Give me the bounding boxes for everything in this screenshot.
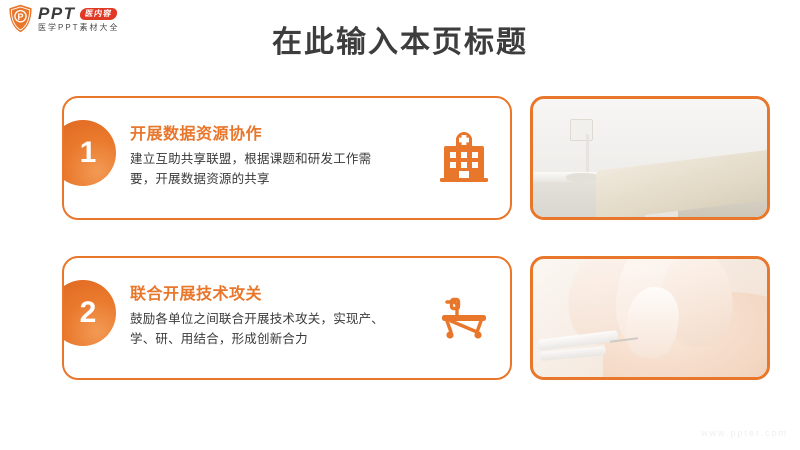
step-badge-1: 1 (62, 120, 116, 186)
hospital-gurney-icon (434, 288, 494, 348)
card-body-2: 鼓励各单位之间联合开展技术攻关，实现产、学、研、用结合，形成创新合力 (130, 309, 390, 350)
medical-injection-photo (530, 256, 770, 380)
photo-frame-2 (533, 259, 767, 377)
card-text-block-1: 开展数据资源协作 建立互助共享联盟，根据课题和研发工作需要，开展数据资源的共享 (130, 120, 390, 190)
hospital-building-icon (434, 128, 494, 188)
injection-illustration (533, 259, 767, 377)
step-number-2: 2 (70, 298, 97, 328)
step-number-1: 1 (70, 138, 97, 168)
step-badge-2: 2 (62, 280, 116, 346)
sink-basin (566, 173, 599, 181)
card-body-1: 建立互助共享联盟，根据课题和研发工作需要，开展数据资源的共享 (130, 149, 390, 190)
content-card-1[interactable]: 1 开展数据资源协作 建立互助共享联盟，根据课题和研发工作需要，开展数据资源的共… (62, 96, 512, 220)
page-title: 在此输入本页标题 (0, 17, 800, 61)
slide: P PPT 医内容 医学PPT素材大全 在此输入本页标题 1 开展数据资源协作 … (0, 0, 800, 450)
site-watermark: www.ppter.com (701, 428, 788, 438)
card-heading-2: 联合开展技术攻关 (130, 280, 390, 304)
exam-room-illustration (533, 99, 767, 217)
wall-panel (570, 119, 593, 141)
clinic-exam-room-photo (530, 96, 770, 220)
card-text-block-2: 联合开展技术攻关 鼓励各单位之间联合开展技术攻关，实现产、学、研、用结合，形成创… (130, 280, 390, 350)
photo-frame-1 (533, 99, 767, 217)
content-card-2[interactable]: 2 联合开展技术攻关 鼓励各单位之间联合开展技术攻关，实现产、学、研、用结合，形… (62, 256, 512, 380)
card-heading-1: 开展数据资源协作 (130, 120, 390, 144)
